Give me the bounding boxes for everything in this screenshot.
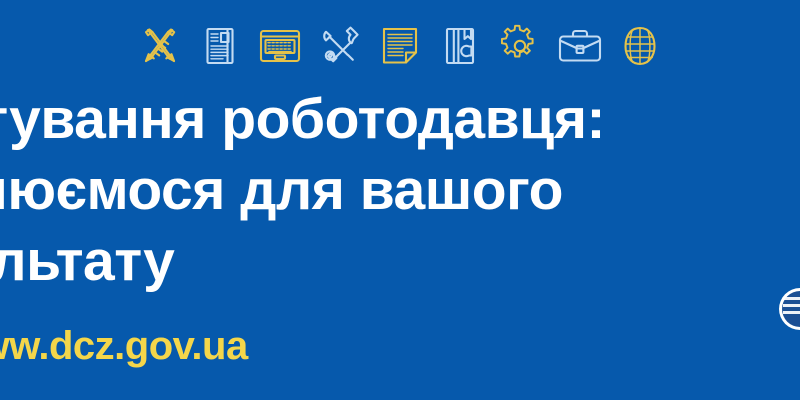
promo-banner: Опитування роботодавця: змінюємося для в… [0, 0, 800, 400]
headline-line-2: змінюємося для вашого [0, 155, 800, 226]
headline: Опитування роботодавця: змінюємося для в… [0, 84, 800, 297]
emblem-bar [783, 297, 800, 300]
briefcase-icon [554, 18, 606, 74]
site-url[interactable]: www.dcz.gov.ua [0, 322, 248, 370]
emblem-bar [783, 304, 800, 307]
crossed-pens-icon [134, 18, 186, 74]
laptop-icon [254, 18, 306, 74]
globe-icon [614, 18, 666, 74]
tools-icon [314, 18, 366, 74]
headline-line-1: Опитування роботодавця: [0, 84, 800, 155]
icon-strip [0, 16, 800, 76]
document-cv-icon [194, 18, 246, 74]
gear-icon [494, 18, 546, 74]
notebook-icon [434, 18, 486, 74]
emblem-bar [783, 311, 800, 314]
sticky-note-icon [374, 18, 426, 74]
headline-line-3: результату [0, 226, 800, 297]
